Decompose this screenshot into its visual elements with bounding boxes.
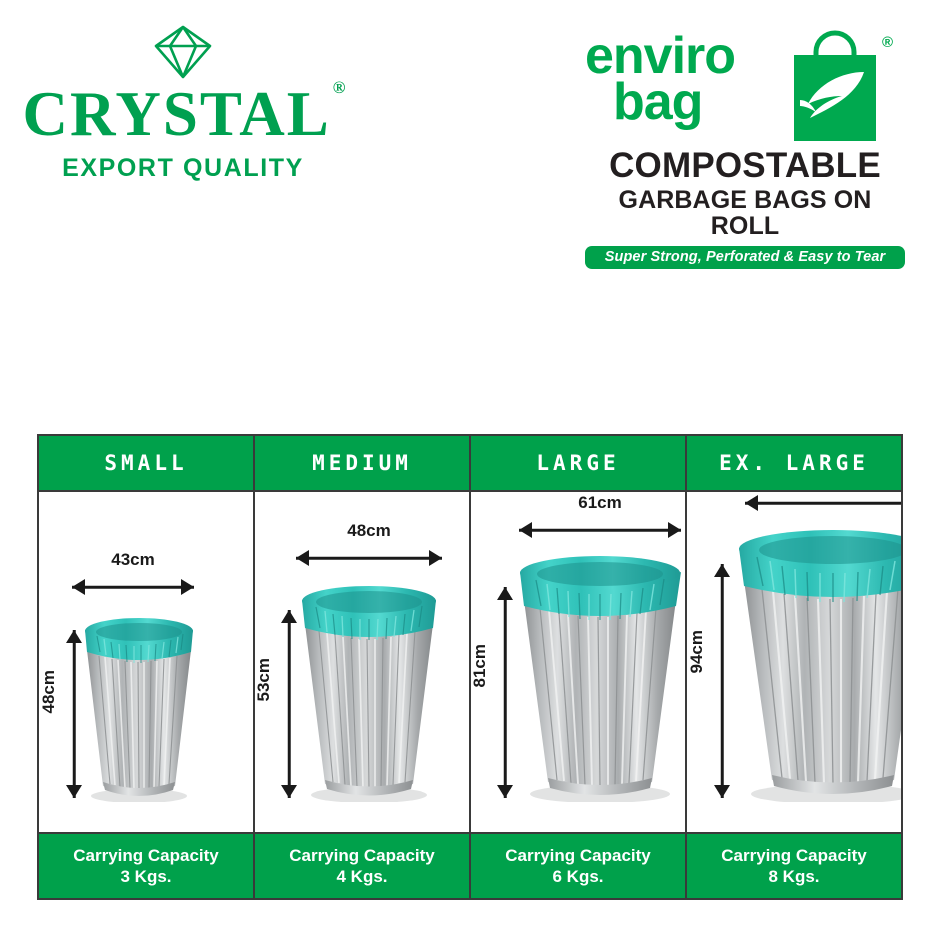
column-header-small: SMALL [39, 436, 253, 492]
table-column-ex-large: EX. LARGE 76cm 94cm [687, 436, 901, 898]
bin-illustration-small: 43cm 48cm [39, 492, 253, 830]
column-body-large: 61cm 81cm [471, 492, 685, 832]
capacity-value-ex-large: 8 Kgs. [768, 866, 819, 887]
height-arrow-small [63, 630, 85, 798]
crystal-registered-icon: ® [333, 78, 346, 97]
table-column-small: SMALL 43cm 48cm [39, 436, 255, 898]
height-arrow-ex-large [711, 564, 733, 798]
column-body-ex-large: 76cm 94cm [687, 492, 901, 832]
height-label-medium: 53cm [255, 658, 274, 701]
capacity-value-small: 3 Kgs. [120, 866, 171, 887]
envirobag-line2: bag [585, 80, 735, 126]
width-arrow-small [72, 576, 194, 598]
capacity-label-medium: Carrying Capacity [289, 845, 435, 866]
width-label-large: 61cm [519, 493, 681, 513]
capacity-label-large: Carrying Capacity [505, 845, 651, 866]
width-arrow-ex-large [745, 492, 901, 514]
width-arrow-medium [296, 547, 442, 569]
envirobag-logo-row: enviro bag ® [585, 24, 905, 146]
diamond-gem-icon [148, 24, 218, 80]
shopping-bag-leaf-icon [790, 28, 880, 143]
height-arrow-large [494, 587, 516, 798]
crystal-name: CRYSTAL [23, 79, 331, 149]
bin-illustration-large: 61cm 81cm [471, 492, 685, 830]
column-header-ex-large: EX. LARGE [687, 436, 901, 492]
crystal-export-quality: EXPORT QUALITY [18, 154, 348, 183]
height-label-ex-large: 94cm [687, 630, 707, 673]
trash-bin-medium [300, 584, 438, 802]
capacity-label-small: Carrying Capacity [73, 845, 219, 866]
table-column-large: LARGE 61cm 81cm [471, 436, 687, 898]
product-subtitle: GARBAGE BAGS ON ROLL [585, 187, 905, 240]
bin-illustration-ex-large: 76cm 94cm [687, 492, 901, 830]
capacity-label-ex-large: Carrying Capacity [721, 845, 867, 866]
column-footer-medium: Carrying Capacity 4 Kgs. [255, 832, 469, 898]
envirobag-product-logo: enviro bag ® COMPOSTABLE GARBAGE BAGS ON… [585, 24, 905, 269]
width-arrow-large [519, 519, 681, 541]
size-comparison-table: SMALL 43cm 48cm [37, 434, 903, 900]
table-column-medium: MEDIUM 48cm 53cm [255, 436, 471, 898]
envirobag-registered-icon: ® [882, 34, 893, 51]
trash-bin-small [83, 616, 195, 802]
column-body-medium: 48cm 53cm [255, 492, 469, 832]
height-label-large: 81cm [471, 644, 490, 687]
crystal-wordmark: CRYSTAL® [23, 84, 344, 146]
height-label-small: 48cm [39, 670, 59, 713]
height-arrow-medium [278, 610, 300, 798]
column-footer-large: Carrying Capacity 6 Kgs. [471, 832, 685, 898]
header: CRYSTAL® EXPORT QUALITY enviro bag ® COM… [0, 0, 940, 260]
product-infographic: CRYSTAL® EXPORT QUALITY enviro bag ® COM… [0, 0, 940, 940]
envirobag-wordmark: enviro bag [585, 34, 735, 126]
column-header-medium: MEDIUM [255, 436, 469, 492]
width-label-medium: 48cm [296, 521, 442, 541]
trash-bin-large [518, 554, 683, 802]
column-footer-ex-large: Carrying Capacity 8 Kgs. [687, 832, 901, 898]
bin-illustration-medium: 48cm 53cm [255, 492, 469, 830]
column-body-small: 43cm 48cm [39, 492, 253, 832]
width-label-small: 43cm [72, 550, 194, 570]
column-header-large: LARGE [471, 436, 685, 492]
crystal-brand-logo: CRYSTAL® EXPORT QUALITY [18, 24, 348, 183]
capacity-value-medium: 4 Kgs. [336, 866, 387, 887]
product-title: COMPOSTABLE [585, 148, 905, 184]
product-tagline-banner: Super Strong, Perforated & Easy to Tear [585, 246, 905, 269]
column-footer-small: Carrying Capacity 3 Kgs. [39, 832, 253, 898]
trash-bin-ex-large [737, 528, 901, 802]
capacity-value-large: 6 Kgs. [552, 866, 603, 887]
